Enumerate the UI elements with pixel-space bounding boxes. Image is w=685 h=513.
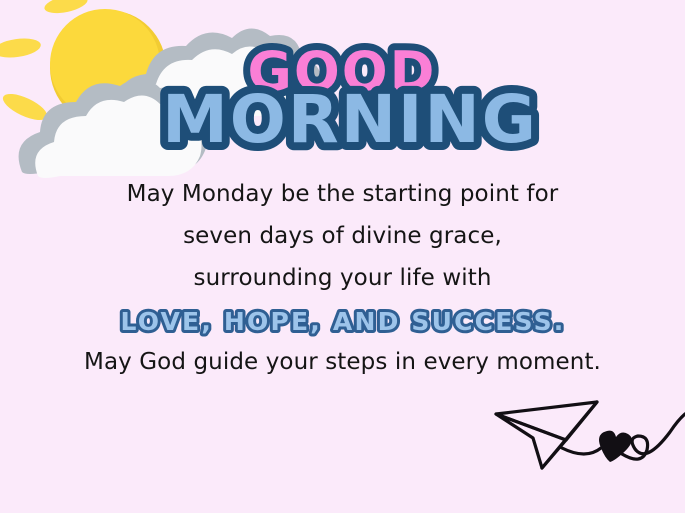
message-line: May Monday be the starting point for [0, 173, 685, 215]
message-block: May Monday be the starting point for sev… [0, 173, 685, 383]
headline-line-morning: MORNING [162, 81, 538, 155]
message-line: surrounding your life with [0, 257, 685, 299]
headline: GOOD MORNING GOOD MORNING [0, 30, 685, 155]
greeting-card: GOOD MORNING GOOD MORNING May Monday be … [0, 0, 685, 513]
paper-plane-icon [496, 402, 597, 468]
heart-icon [599, 431, 632, 462]
message-line: May God guide your steps in every moment… [0, 341, 685, 383]
message-line: seven days of divine grace, [0, 215, 685, 257]
trail-line [562, 414, 685, 459]
message-line-highlight: LOVE, HOPE, AND SUCCESS. LOVE, HOPE, AND… [0, 299, 685, 341]
paper-plane-doodle [470, 392, 685, 492]
